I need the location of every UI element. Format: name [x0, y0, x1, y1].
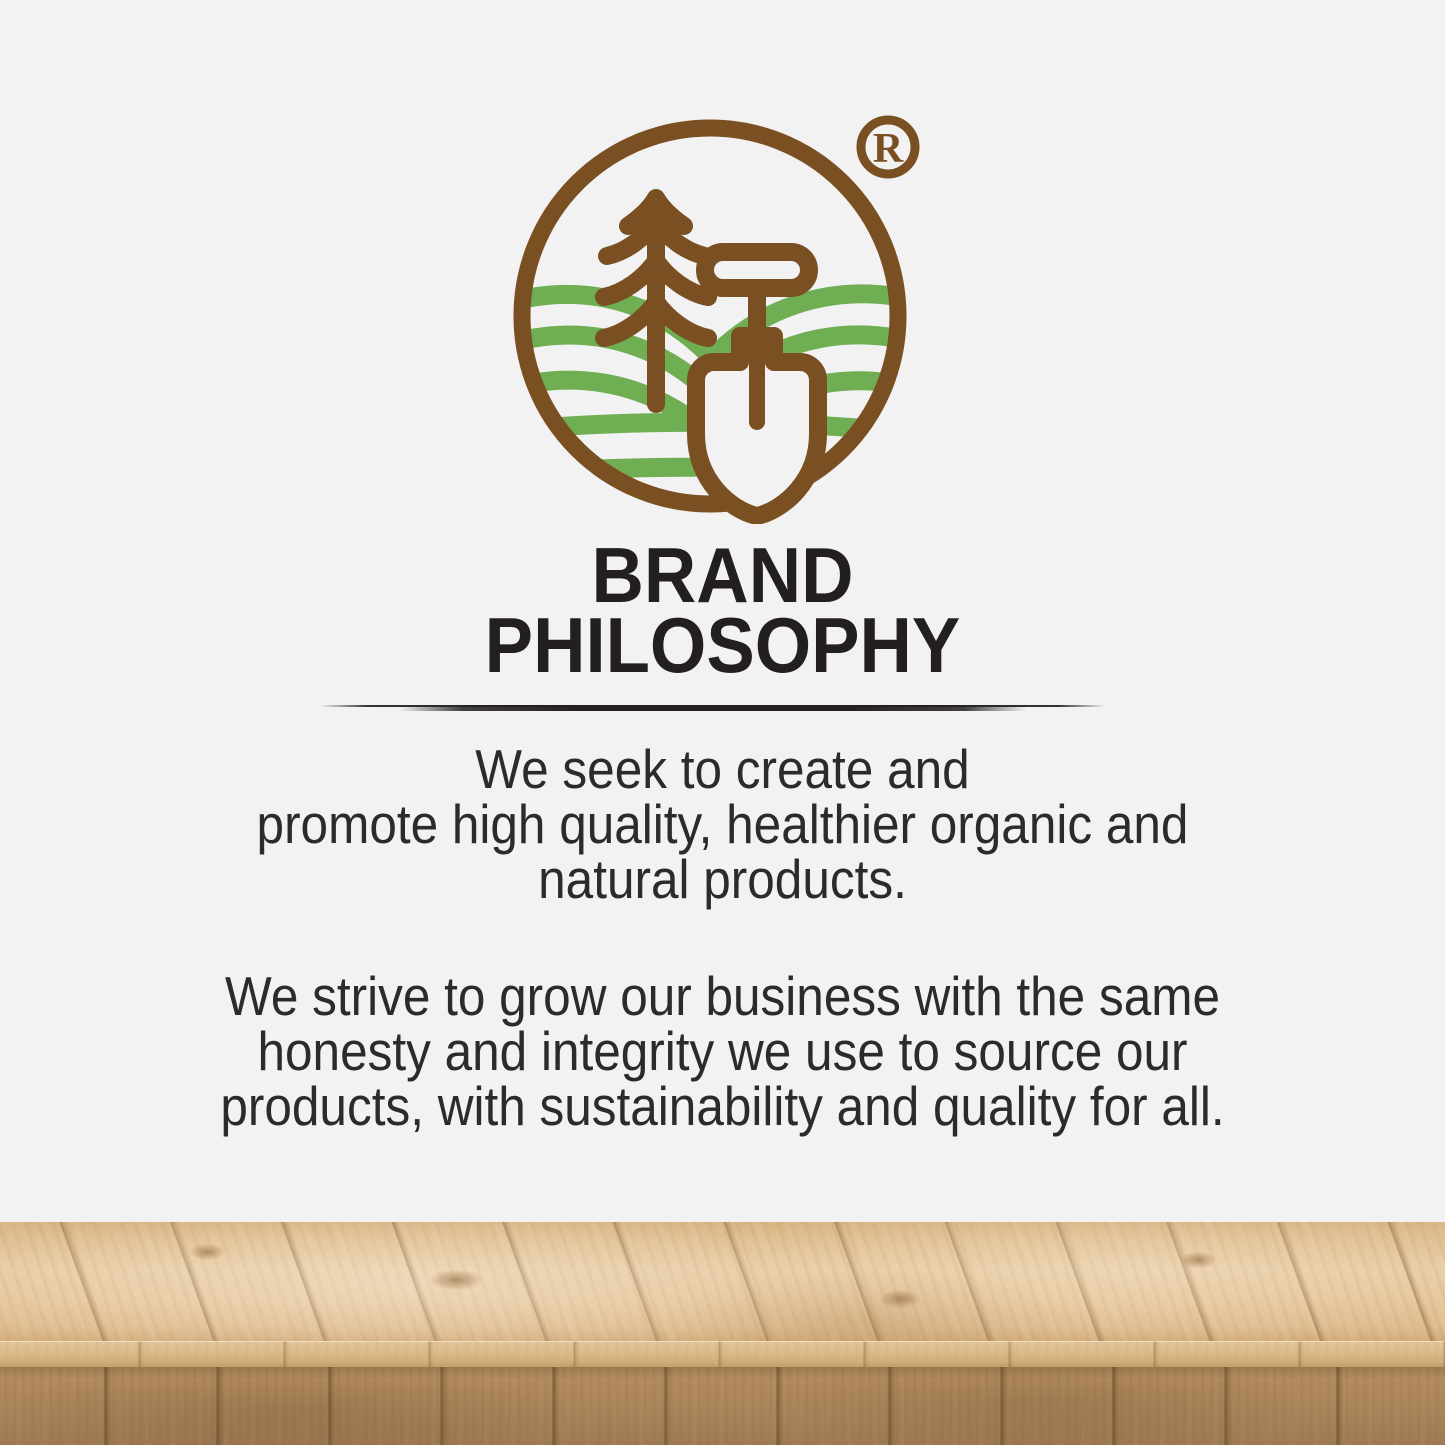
paragraph-one-line-2: promote high quality, healthier organic … [72, 797, 1373, 852]
brand-logo: R [0, 104, 1445, 534]
paragraph-two-line-2: honesty and integrity we use to source o… [72, 1024, 1373, 1079]
wood-knot [880, 1290, 920, 1308]
shovel-blade-icon [696, 336, 818, 516]
paragraph-two-line-1: We strive to grow our business with the … [72, 969, 1373, 1024]
wood-knot [1180, 1252, 1216, 1268]
divider-thick-rule [399, 707, 1028, 711]
title-line-1: BRAND [51, 540, 1395, 610]
philosophy-text: We seek to create and promote high quali… [0, 742, 1445, 1134]
table-top-planks [0, 1222, 1445, 1341]
registered-trademark-icon: R [861, 120, 915, 174]
wooden-table-surface [0, 1222, 1445, 1445]
farm-circle-logo-icon: R [508, 104, 938, 524]
table-lower-planks [0, 1367, 1445, 1445]
wood-knot [430, 1270, 482, 1290]
paragraph-one: We seek to create and promote high quali… [72, 742, 1373, 907]
title-divider [320, 703, 1106, 713]
table-front-edge [0, 1341, 1445, 1367]
poster-canvas: R BRAND PHILOSOPHY We seek to create and… [0, 0, 1445, 1445]
paragraph-one-line-3: natural products. [72, 852, 1373, 907]
title-line-2: PHILOSOPHY [51, 610, 1395, 680]
svg-text:R: R [872, 126, 903, 172]
paragraph-two: We strive to grow our business with the … [72, 969, 1373, 1134]
paragraph-two-line-3: products, with sustainability and qualit… [72, 1079, 1373, 1134]
paragraph-one-line-1: We seek to create and [72, 742, 1373, 797]
page-title: BRAND PHILOSOPHY [0, 540, 1445, 680]
wood-knot [190, 1244, 224, 1260]
